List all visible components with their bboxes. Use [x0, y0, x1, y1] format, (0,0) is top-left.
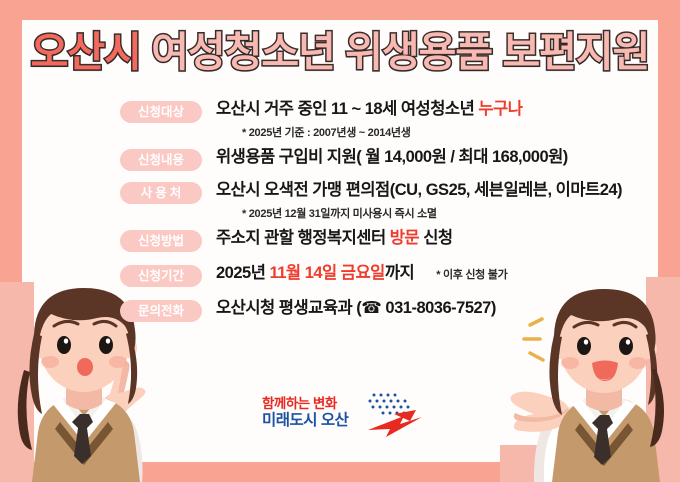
note-usage-place: * 2025년 12월 31일까지 미사용시 즉시 소멸	[242, 205, 658, 221]
title-part-city: 오산시	[31, 32, 141, 73]
logo-slogan: 함께하는 변화 미래도시 오산	[262, 396, 348, 430]
frame-band-top	[0, 0, 680, 20]
row-body-usage-place: 오산시 오색전 가맹 편의점(CU, GS25, 세븐일레븐, 이마트24) *…	[216, 179, 658, 221]
badge-usage-place: 사용처	[120, 182, 202, 204]
info-rows: 신청대상 오산시 거주 중인 11 ~ 18세 여성청소년 누구나 * 2025…	[22, 98, 658, 324]
badge-period: 신청기간	[120, 265, 202, 287]
row-main-how-to-apply: 주소지 관할 행정복지센터 방문 신청	[216, 227, 658, 251]
logo-slogan-line1: 함께하는 변화	[262, 396, 348, 412]
info-row-how-to-apply: 신청방법 주소지 관할 행정복지센터 방문 신청	[22, 227, 658, 252]
eligibility-highlight: 누구나	[478, 100, 522, 118]
info-row-benefit: 신청내용 위생용품 구입비 지원( 월 14,000원 / 최대 168,000…	[22, 146, 658, 171]
info-row-eligibility: 신청대상 오산시 거주 중인 11 ~ 18세 여성청소년 누구나 * 2025…	[22, 98, 658, 140]
row-body-period: 2025년 11월 14일 금요일까지* 이후 신청 불가	[216, 262, 658, 286]
note-period: * 이후 신청 불가	[436, 269, 507, 281]
info-row-period: 신청기간 2025년 11월 14일 금요일까지* 이후 신청 불가	[22, 262, 658, 287]
period-suffix: 까지	[385, 264, 414, 282]
osan-arrow-mark-icon	[364, 390, 428, 440]
poster-title: 오산시 여성청소년 위생용품 보편지원	[0, 32, 680, 73]
how-to-apply-text-tail: 신청	[419, 229, 452, 247]
info-row-usage-place: 사용처 오산시 오색전 가맹 편의점(CU, GS25, 세븐일레븐, 이마트2…	[22, 179, 658, 221]
row-body-benefit: 위생용품 구입비 지원( 월 14,000원 / 최대 168,000원)	[216, 146, 658, 170]
row-main-usage-place: 오산시 오색전 가맹 편의점(CU, GS25, 세븐일레븐, 이마트24)	[216, 179, 658, 203]
period-year: 2025년	[216, 264, 269, 282]
poster-root: 오산시 여성청소년 위생용품 보편지원 신청대상 오산시 거주 중인 11 ~ …	[0, 0, 680, 482]
badge-benefit: 신청내용	[120, 149, 202, 171]
badge-eligibility: 신청대상	[120, 101, 202, 123]
row-body-contact: 오산시청 평생교육과 (☎ 031-8036-7527)	[216, 297, 658, 321]
period-deadline-highlight: 11월 14일 금요일	[269, 264, 384, 282]
row-main-contact: 오산시청 평생교육과 (☎ 031-8036-7527)	[216, 297, 658, 321]
logo-slogan-line2: 미래도시 오산	[262, 412, 348, 430]
title-part-program: 여성청소년 위생용품 보편지원	[151, 32, 649, 73]
row-main-period: 2025년 11월 14일 금요일까지* 이후 신청 불가	[216, 262, 658, 286]
badge-contact: 문의전화	[120, 300, 202, 322]
eligibility-text: 오산시 거주 중인 11 ~ 18세 여성청소년	[216, 100, 478, 118]
row-main-eligibility: 오산시 거주 중인 11 ~ 18세 여성청소년 누구나	[216, 98, 658, 122]
info-row-contact: 문의전화 오산시청 평생교육과 (☎ 031-8036-7527)	[22, 297, 658, 322]
note-eligibility: * 2025년 기준 : 2007년생 ~ 2014년생	[242, 124, 658, 140]
row-body-how-to-apply: 주소지 관할 행정복지센터 방문 신청	[216, 227, 658, 251]
city-logo: 함께하는 변화 미래도시 오산	[258, 390, 428, 442]
row-main-benefit: 위생용품 구입비 지원( 월 14,000원 / 최대 168,000원)	[216, 146, 658, 170]
how-to-apply-text: 주소지 관할 행정복지센터	[216, 229, 390, 247]
badge-how-to-apply: 신청방법	[120, 230, 202, 252]
row-body-eligibility: 오산시 거주 중인 11 ~ 18세 여성청소년 누구나 * 2025년 기준 …	[216, 98, 658, 140]
how-to-apply-highlight: 방문	[390, 229, 419, 247]
